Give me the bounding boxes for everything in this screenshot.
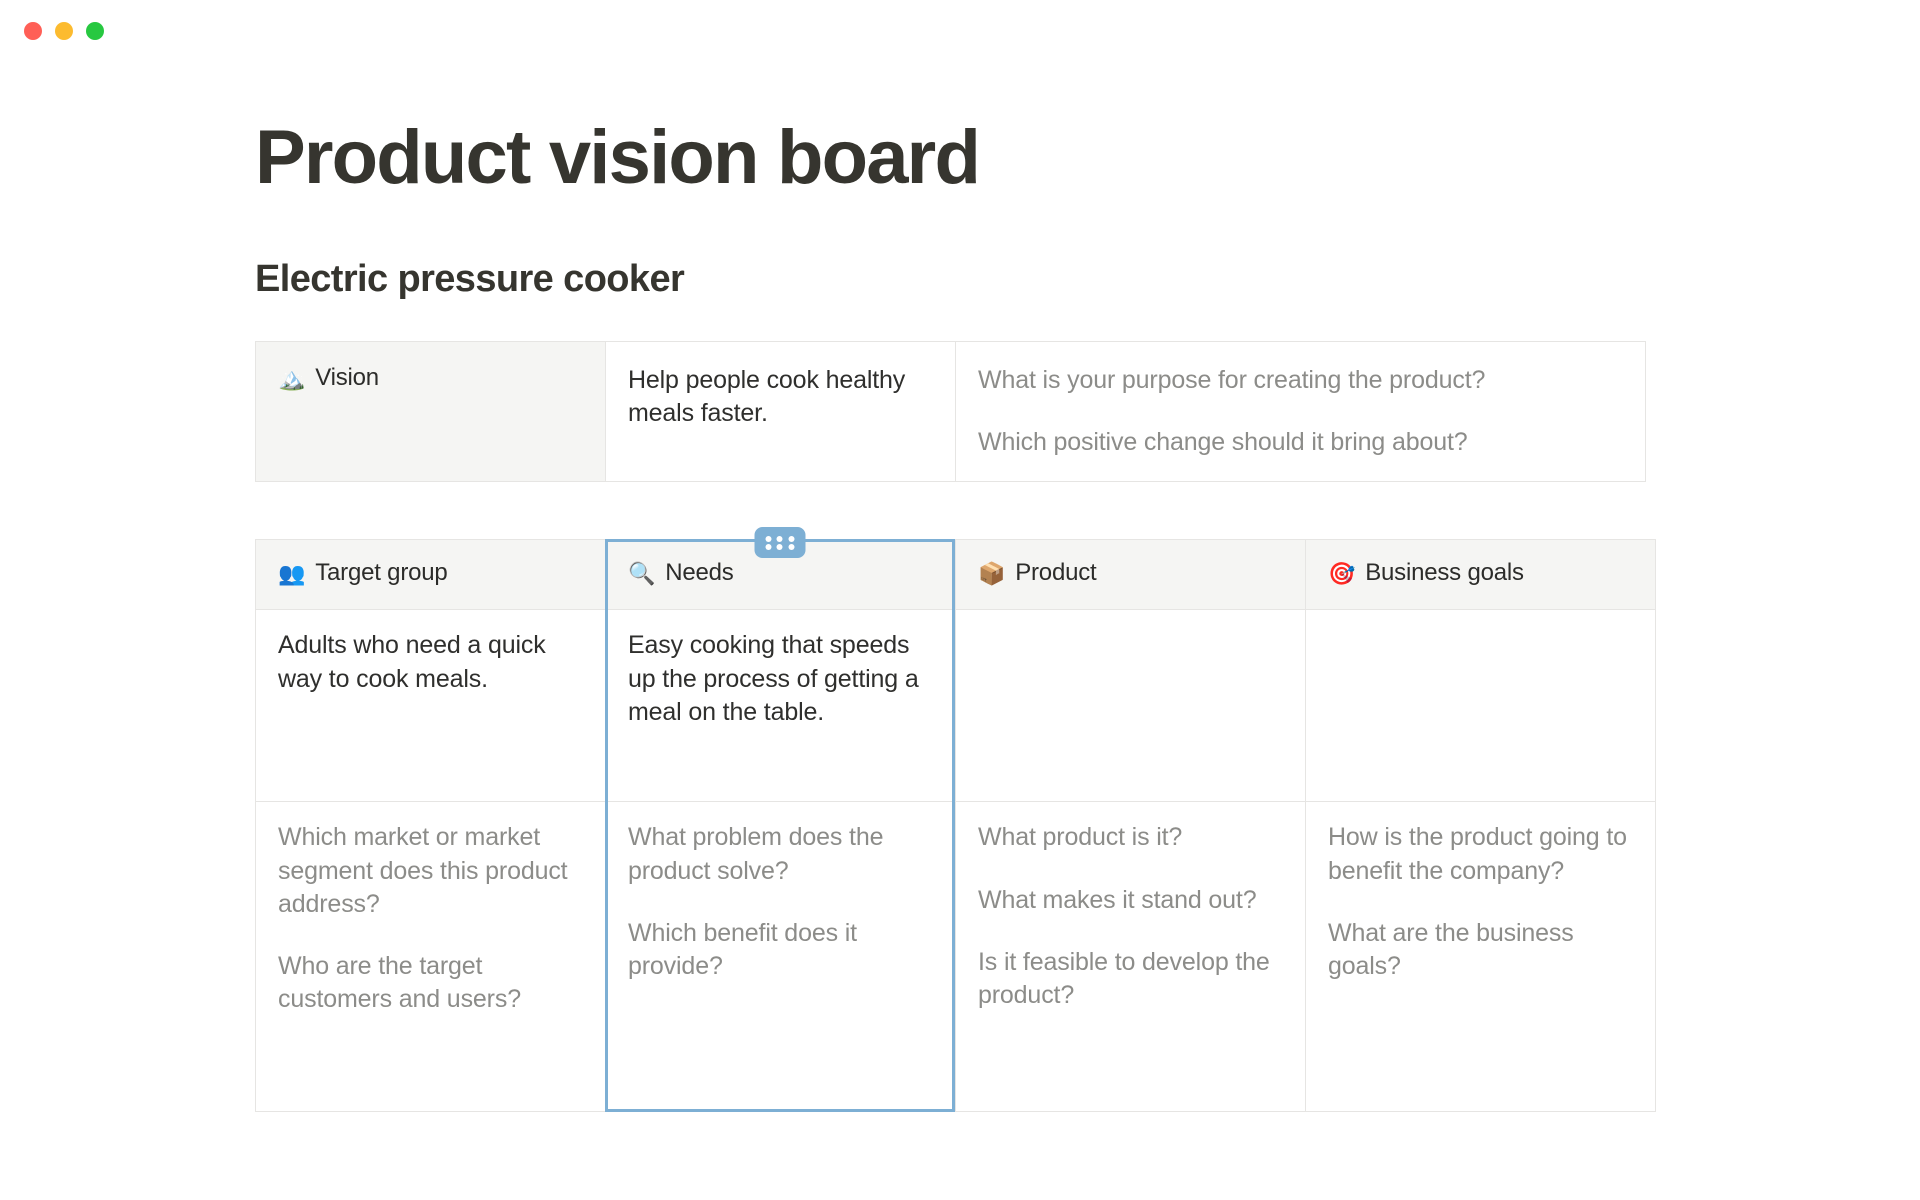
package-emoji: 📦 [978, 561, 1005, 587]
placeholder-line: Who are the target customers and users? [278, 950, 583, 1017]
cell-target-group-value[interactable]: Adults who need a quick way to cook meal… [256, 610, 606, 802]
column-header-product[interactable]: 📦Product [956, 540, 1306, 610]
vision-table: 🏔️Vision Help people cook healthy meals … [255, 341, 1646, 483]
magnifying-glass-emoji: 🔍 [628, 561, 655, 587]
cell-business-goals-value[interactable] [1306, 610, 1656, 802]
page-subtitle[interactable]: Electric pressure cooker [255, 259, 1675, 301]
vision-label-text: Vision [315, 364, 379, 391]
table-row: Adults who need a quick way to cook meal… [256, 610, 1656, 802]
snow-capped-mountain-emoji: 🏔️ [278, 366, 305, 392]
document-body: Product vision board Electric pressure c… [255, 0, 1675, 1112]
vision-table-wrapper: 🏔️Vision Help people cook healthy meals … [255, 341, 1675, 483]
column-header-business-goals[interactable]: 🎯Business goals [1306, 540, 1656, 610]
vision-placeholder-line: What is your purpose for creating the pr… [978, 364, 1623, 397]
table-row: Which market or market segment does this… [256, 802, 1656, 1112]
placeholder-line: What are the business goals? [1328, 917, 1633, 984]
vision-board-grid-table: 👥Target group 🔍Needs 📦Product 🎯Business … [255, 539, 1656, 1112]
cell-business-goals-placeholder[interactable]: How is the product going to benefit the … [1306, 802, 1656, 1112]
placeholder-line: Which benefit does it provide? [628, 917, 933, 984]
grid-table-wrapper: 👥Target group 🔍Needs 📦Product 🎯Business … [255, 539, 1675, 1112]
vision-label-cell[interactable]: 🏔️Vision [256, 341, 606, 482]
vision-value-cell[interactable]: Help people cook healthy meals faster. [606, 341, 956, 482]
placeholder-line: How is the product going to benefit the … [1328, 821, 1633, 888]
column-header-needs[interactable]: 🔍Needs [606, 540, 956, 610]
placeholder-line: Is it feasible to develop the product? [978, 946, 1283, 1013]
cell-target-group-placeholder[interactable]: Which market or market segment does this… [256, 802, 606, 1112]
placeholder-line: Which market or market segment does this… [278, 821, 583, 921]
column-header-label: Target group [315, 559, 447, 586]
page-title[interactable]: Product vision board [255, 120, 1675, 196]
placeholder-line: What product is it? [978, 821, 1283, 854]
table-row: 🏔️Vision Help people cook healthy meals … [256, 341, 1646, 482]
cell-needs-placeholder[interactable]: What problem does the product solve? Whi… [606, 802, 956, 1112]
close-window-button[interactable] [24, 22, 42, 40]
column-header-label: Needs [665, 559, 733, 586]
busts-in-silhouette-emoji: 👥 [278, 561, 305, 587]
window-controls [24, 22, 104, 40]
column-header-label: Product [1015, 559, 1096, 586]
cell-product-value[interactable] [956, 610, 1306, 802]
direct-hit-emoji: 🎯 [1328, 561, 1355, 587]
cell-needs-value[interactable]: Easy cooking that speeds up the process … [606, 610, 956, 802]
placeholder-line: What problem does the product solve? [628, 821, 933, 888]
cell-product-placeholder[interactable]: What product is it? What makes it stand … [956, 802, 1306, 1112]
column-header-label: Business goals [1365, 559, 1524, 586]
table-header-row: 👥Target group 🔍Needs 📦Product 🎯Business … [256, 540, 1656, 610]
column-header-target-group[interactable]: 👥Target group [256, 540, 606, 610]
vision-placeholder-cell[interactable]: What is your purpose for creating the pr… [956, 341, 1646, 482]
placeholder-line: What makes it stand out? [978, 884, 1283, 917]
vision-placeholder-line: Which positive change should it bring ab… [978, 426, 1623, 459]
minimize-window-button[interactable] [55, 22, 73, 40]
maximize-window-button[interactable] [86, 22, 104, 40]
